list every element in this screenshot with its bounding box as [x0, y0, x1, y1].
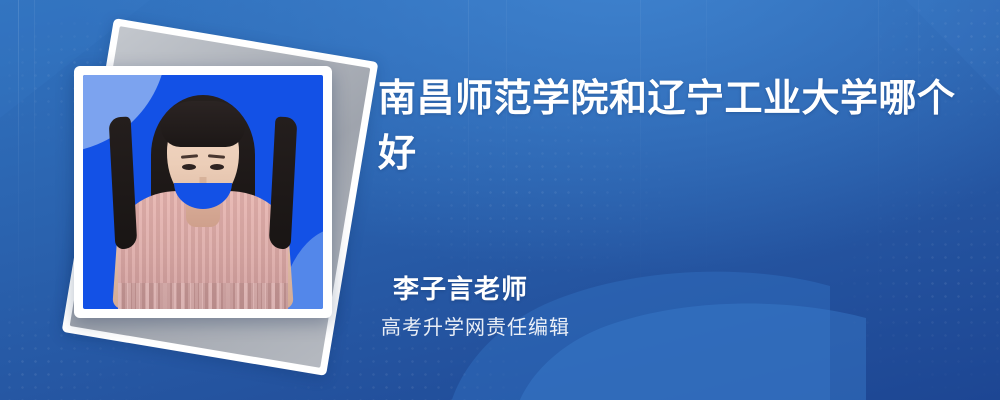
author-role: 高考升学网责任编辑 — [378, 315, 938, 341]
banner-text-column: 南昌师范学院和辽宁工业大学哪个好 李子言老师 高考升学网责任编辑 — [372, 0, 980, 400]
dress-waistband — [118, 283, 288, 309]
portrait-photo-stack — [48, 36, 368, 366]
eyebrow-left — [181, 154, 198, 158]
person-portrait — [109, 91, 297, 309]
author-byline: 李子言老师 高考升学网责任编辑 — [378, 272, 938, 341]
author-name: 李子言老师 — [378, 272, 938, 306]
hair-fringe — [161, 101, 245, 147]
article-headline: 南昌师范学院和辽宁工业大学哪个好 — [378, 72, 958, 182]
portrait-photo — [83, 75, 323, 309]
hair-strand-left — [109, 117, 138, 250]
eyebrow-right — [208, 154, 225, 158]
eye-left — [182, 164, 196, 170]
eye-right — [210, 164, 224, 170]
hair-strand-right — [269, 117, 298, 250]
portrait-photo-card — [74, 66, 332, 318]
article-hero-banner: 南昌师范学院和辽宁工业大学哪个好 李子言老师 高考升学网责任编辑 — [0, 0, 1000, 400]
